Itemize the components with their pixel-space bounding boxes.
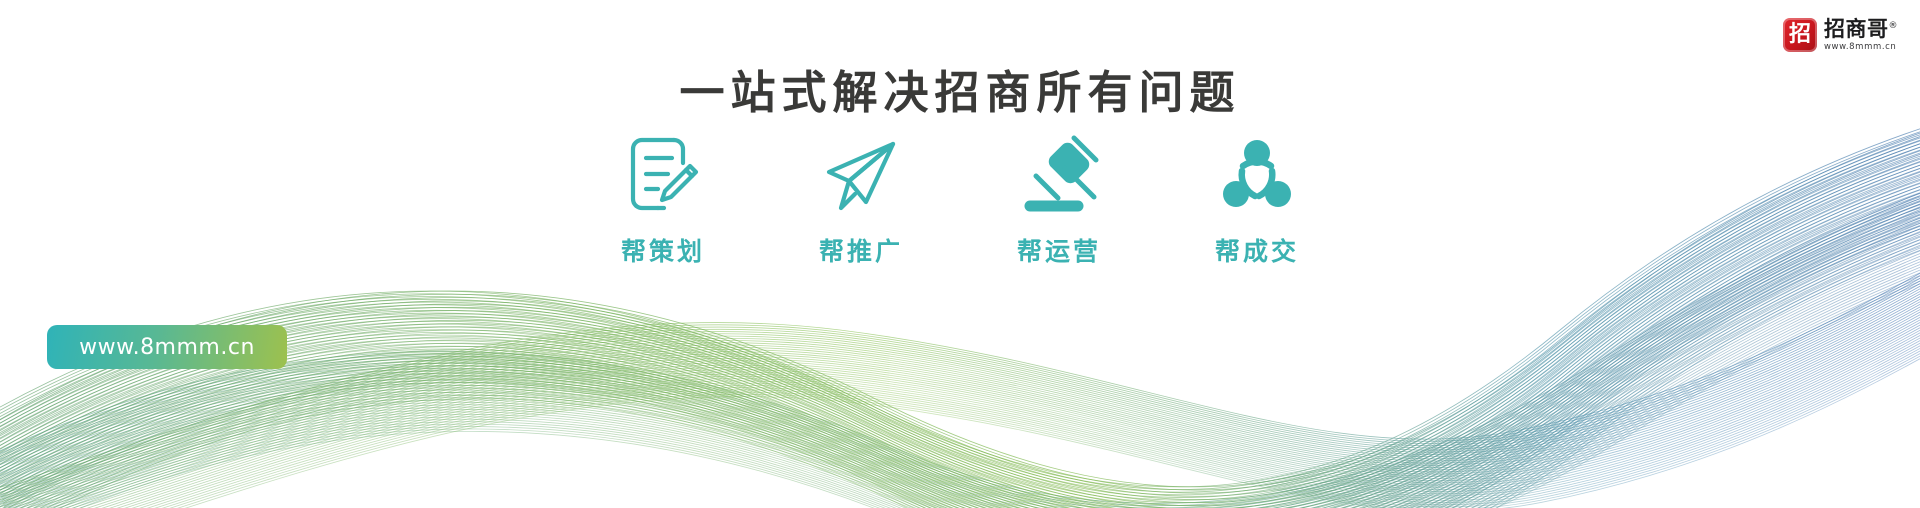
feature-item-closing[interactable]: 帮成交 [1192,132,1322,268]
feature-item-promotion[interactable]: 帮推广 [796,132,926,268]
feature-label: 帮推广 [819,232,903,268]
feature-list: 帮策划 帮推广 [0,132,1920,268]
paper-plane-icon [819,132,903,216]
website-url-text: www.8mmm.cn [79,335,255,360]
network-share-icon [1215,132,1299,216]
website-url-badge[interactable]: www.8mmm.cn [47,325,287,369]
brand-name: 招商哥® [1824,18,1898,40]
feature-label: 帮策划 [621,232,705,268]
feature-item-planning[interactable]: 帮策划 [598,132,728,268]
promo-banner: 招 招商哥® www.8mmm.cn 一站式解决招商所有问题 [0,0,1920,508]
feature-item-operations[interactable]: 帮运营 [994,132,1124,268]
gavel-icon [1016,132,1102,216]
logo-mark-character: 招 [1789,24,1811,46]
brand-name-text: 招商哥 [1824,17,1889,41]
logo-url: www.8mmm.cn [1824,42,1898,52]
document-pencil-icon [624,132,702,216]
feature-label: 帮运营 [1017,232,1101,268]
brand-logo[interactable]: 招 招商哥® www.8mmm.cn [1783,18,1898,52]
logo-text-block: 招商哥® www.8mmm.cn [1824,18,1898,51]
logo-mark-icon: 招 [1783,18,1817,52]
registered-mark: ® [1889,21,1899,31]
page-title: 一站式解决招商所有问题 [0,56,1920,121]
feature-label: 帮成交 [1215,232,1299,268]
